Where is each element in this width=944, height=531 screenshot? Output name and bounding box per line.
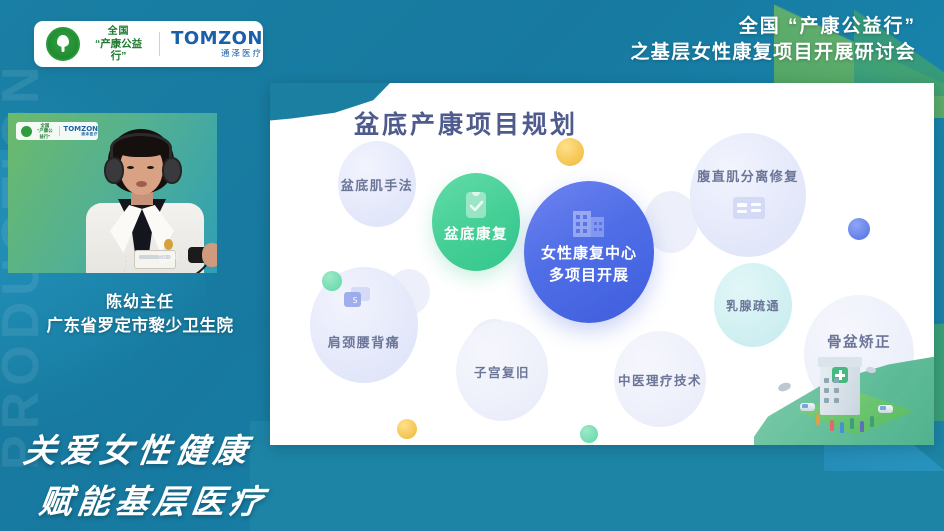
illustration-person bbox=[850, 418, 854, 429]
bubble-label-line2: 多项目开展 bbox=[541, 265, 637, 287]
illustration-window bbox=[834, 388, 839, 393]
logo-cn-line1: 全国 bbox=[89, 26, 148, 38]
bubble-label: 子宫复旧 bbox=[474, 362, 530, 381]
video-logo-cn: 全国 “产康公益行” bbox=[35, 123, 55, 140]
slogan-line2: 赋能基层医疗 bbox=[37, 475, 298, 523]
webinar-stage: PRODUCTION 全国 “产康公益行” TOMZON 通泽医疗 全国 “产康… bbox=[0, 0, 944, 531]
event-title-line2: 之基层女性康复项目开展研讨会 bbox=[630, 40, 916, 66]
speaker-affiliation: 广东省罗定市黎少卫生院 bbox=[8, 315, 272, 338]
illustration-ambulance-right bbox=[878, 405, 893, 413]
speaker-name: 陈幼主任 bbox=[8, 292, 272, 315]
slogan-line1: 关爱女性健康 bbox=[21, 424, 298, 472]
illustration-window bbox=[834, 378, 839, 383]
id-card-icon bbox=[732, 195, 766, 221]
decor-dot-mint-center bbox=[580, 425, 598, 443]
logo-cn-line2: “产康公益行” bbox=[89, 38, 148, 63]
bubble-pelvic-rehab[interactable]: 盆底康复 bbox=[432, 173, 520, 271]
clipboard-check-icon bbox=[462, 189, 490, 221]
headset-earcup-right-icon bbox=[162, 157, 182, 184]
svg-text:S: S bbox=[353, 296, 358, 305]
hospital-building-icon bbox=[570, 203, 608, 243]
logo-divider bbox=[159, 32, 160, 56]
brand-name-cn: 通泽医疗 bbox=[171, 49, 263, 58]
illustration-person bbox=[870, 416, 874, 427]
bubble-uterine-involution[interactable]: 子宫复旧 bbox=[456, 321, 548, 421]
illustration-window bbox=[824, 378, 829, 383]
brand-logo: TOMZON 通泽医疗 bbox=[171, 30, 263, 58]
layers-icon: S bbox=[342, 285, 372, 311]
illustration-hospital-roof bbox=[818, 357, 862, 367]
bubble-label: 骨盆矫正 bbox=[827, 331, 891, 352]
presenter-mouth bbox=[136, 181, 147, 187]
presenter-eye-left bbox=[127, 166, 134, 169]
bubble-label-line1: 女性康复中心 bbox=[541, 243, 637, 265]
event-title: 全国 “产康公益行” 之基层女性康复项目开展研讨会 bbox=[630, 14, 916, 66]
illustration-window bbox=[834, 398, 839, 403]
bubble-label: 盆底康复 bbox=[444, 223, 508, 244]
illustration-rock-1 bbox=[777, 381, 792, 393]
bubble-diastasis-recti-repair[interactable]: 腹直肌分离修复 bbox=[690, 133, 806, 257]
bubble-womens-rehab-center[interactable]: 女性康复中心 多项目开展 bbox=[524, 181, 654, 323]
speaker-info: 陈幼主任 广东省罗定市黎少卫生院 bbox=[8, 292, 272, 338]
video-logo-emblem-icon bbox=[21, 126, 32, 137]
green-leaf-emblem-icon bbox=[46, 27, 80, 61]
presenter-figure: 蓝筱 bbox=[70, 127, 217, 273]
bubble-label: 中医理疗技术 bbox=[618, 370, 702, 389]
bubble-label-block: 女性康复中心 多项目开展 bbox=[541, 243, 637, 287]
presenter-video[interactable]: 全国 “产康公益行” TOMZON 通泽医疗 bbox=[8, 113, 217, 273]
bubble-label: 肩颈腰背痛 bbox=[328, 332, 401, 351]
decor-dot-mint-left bbox=[322, 271, 342, 291]
headset-earcup-left-icon bbox=[104, 157, 124, 184]
logo-bar: 全国 “产康公益行” TOMZON 通泽医疗 bbox=[34, 21, 263, 67]
presenter-hand bbox=[202, 243, 217, 267]
event-title-line1: 全国 “产康公益行” bbox=[630, 14, 916, 40]
decor-dot-yellow-top bbox=[556, 138, 584, 166]
bubble-label: 乳腺疏通 bbox=[726, 297, 780, 314]
illustration-person bbox=[840, 422, 844, 433]
illustration-window bbox=[824, 398, 829, 403]
bubble-pelvic-muscle-technique[interactable]: 盆底肌手法 bbox=[338, 141, 416, 227]
slide-title: 盆底产康项目规划 bbox=[354, 105, 578, 141]
illustration-window bbox=[824, 388, 829, 393]
bubble-tcm-physiotherapy[interactable]: 中医理疗技术 bbox=[614, 331, 706, 427]
presenter-eye-right bbox=[147, 166, 154, 169]
bubble-label: 腹直肌分离修复 bbox=[697, 166, 799, 185]
event-slogan: 关爱女性健康 赋能基层医疗 bbox=[24, 424, 294, 523]
illustration-ambulance-left bbox=[800, 403, 815, 411]
illustration-person bbox=[860, 421, 864, 432]
decor-dot-blue-right bbox=[848, 218, 870, 240]
brand-name: TOMZON bbox=[171, 30, 263, 49]
illustration-person bbox=[830, 420, 834, 431]
illustration-person bbox=[816, 414, 820, 425]
decor-dot-yellow-bottom bbox=[397, 419, 417, 439]
logo-chinese-text: 全国 “产康公益行” bbox=[89, 26, 148, 63]
video-logo-divider bbox=[59, 126, 60, 136]
presentation-slide[interactable]: 盆底产康项目规划 盆底肌手法 盆底康复 bbox=[270, 83, 934, 445]
video-logo-cn-line2: “产康公益行” bbox=[35, 128, 55, 139]
bubble-label: 盆底肌手法 bbox=[341, 175, 414, 194]
